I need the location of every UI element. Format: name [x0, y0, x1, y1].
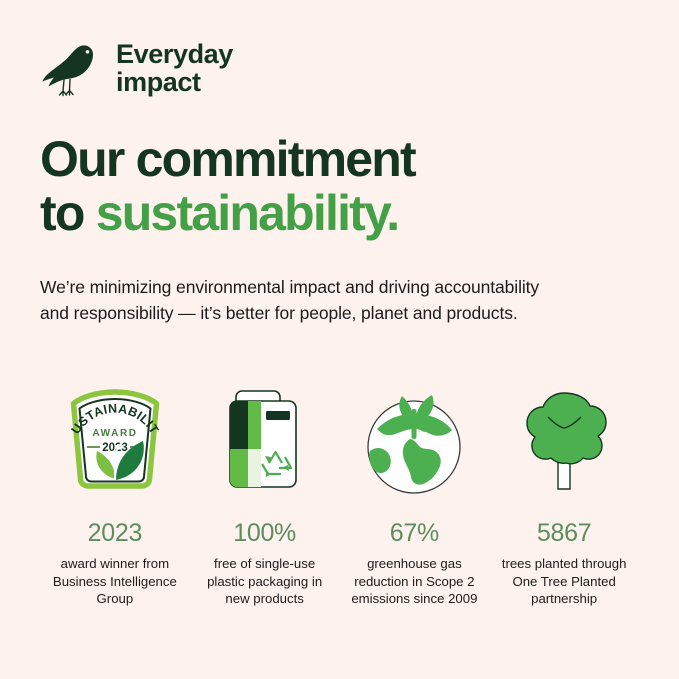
- stat-icon-wrap: [350, 368, 478, 503]
- stat-value: 5867: [537, 521, 591, 546]
- bird-icon: [40, 39, 102, 99]
- stat-item: 5867 trees planted through One Tree Plan…: [489, 368, 639, 608]
- stat-icon-wrap: SUSTAINABILITY AWARD 2023: [53, 368, 177, 503]
- recyclable-packaging-icon: [203, 379, 327, 503]
- brand-wordmark: Everyday impact: [116, 41, 233, 96]
- sustainability-infographic: Everyday impact Our commitment to sustai…: [0, 0, 679, 679]
- badge-subtitle: AWARD: [92, 428, 137, 439]
- brand-line-2: impact: [116, 69, 233, 97]
- brand-line-1: Everyday: [116, 41, 233, 69]
- stat-value: 2023: [88, 521, 142, 546]
- tree-icon: [502, 379, 626, 503]
- stat-caption: free of single-use plastic packaging in …: [195, 555, 335, 608]
- globe-sprout-icon: [350, 369, 478, 503]
- stat-caption: trees planted through One Tree Planted p…: [494, 555, 634, 608]
- page-title: Our commitment to sustainability.: [40, 132, 639, 240]
- stats-row: SUSTAINABILITY AWARD 2023 2023 award win…: [40, 368, 639, 608]
- stat-value: 100%: [233, 521, 296, 546]
- stat-icon-wrap: [203, 368, 327, 503]
- sustainability-award-badge-icon: SUSTAINABILITY AWARD 2023: [53, 379, 177, 503]
- stat-item: 100% free of single-use plastic packagin…: [190, 368, 340, 608]
- brand-lockup: Everyday impact: [40, 34, 639, 104]
- stat-icon-wrap: [502, 368, 626, 503]
- headline-line-2-accent: sustainability.: [96, 185, 399, 241]
- stat-caption: greenhouse gas reduction in Scope 2 emis…: [344, 555, 484, 608]
- stat-caption: award winner from Business Intelligence …: [45, 555, 185, 608]
- headline-line-1: Our commitment: [40, 131, 415, 187]
- stat-value: 67%: [390, 521, 439, 546]
- headline-line-2-prefix: to: [40, 185, 96, 241]
- stat-item: 67% greenhouse gas reduction in Scope 2 …: [340, 368, 490, 608]
- intro-paragraph: We’re minimizing environmental impact an…: [40, 274, 550, 327]
- stat-item: SUSTAINABILITY AWARD 2023 2023 award win…: [40, 368, 190, 608]
